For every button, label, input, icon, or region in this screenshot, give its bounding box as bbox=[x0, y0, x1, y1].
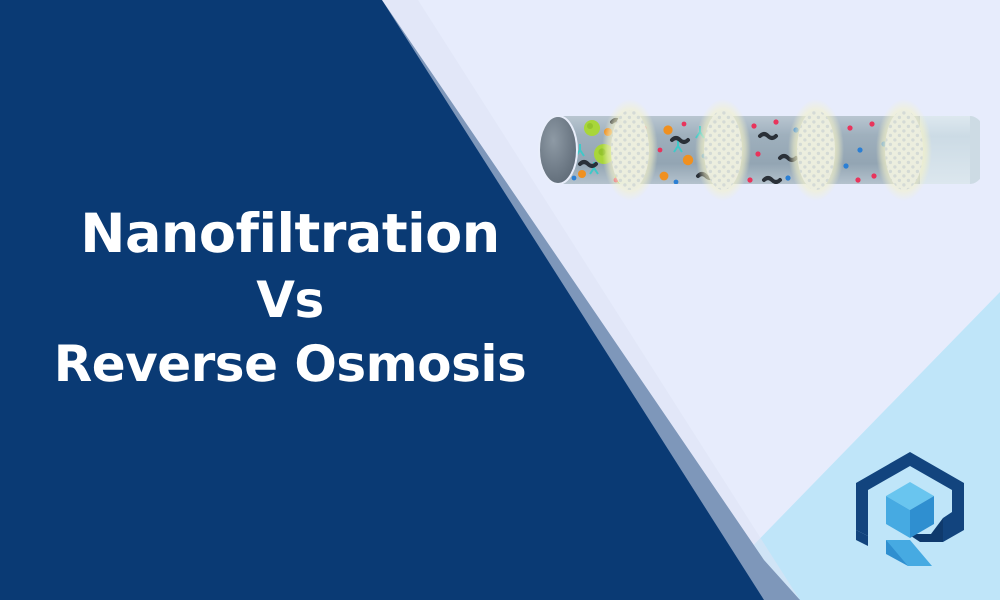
membrane-disc-4 bbox=[876, 99, 932, 201]
filtration-diagram-svg bbox=[528, 88, 980, 210]
diagonal-leg bbox=[886, 540, 932, 566]
tube-inlet-cap bbox=[539, 116, 577, 184]
isometric-cube bbox=[886, 482, 934, 538]
membrane-disc-2 bbox=[695, 99, 751, 201]
membrane-disc-1 bbox=[602, 99, 658, 201]
membrane-disc-3 bbox=[788, 99, 844, 201]
poster-canvas: Nanofiltration Vs Reverse Osmosis bbox=[0, 0, 1000, 600]
hexagon-p-cube-logo[interactable] bbox=[848, 448, 976, 576]
membrane-filtration-tube bbox=[528, 88, 980, 210]
